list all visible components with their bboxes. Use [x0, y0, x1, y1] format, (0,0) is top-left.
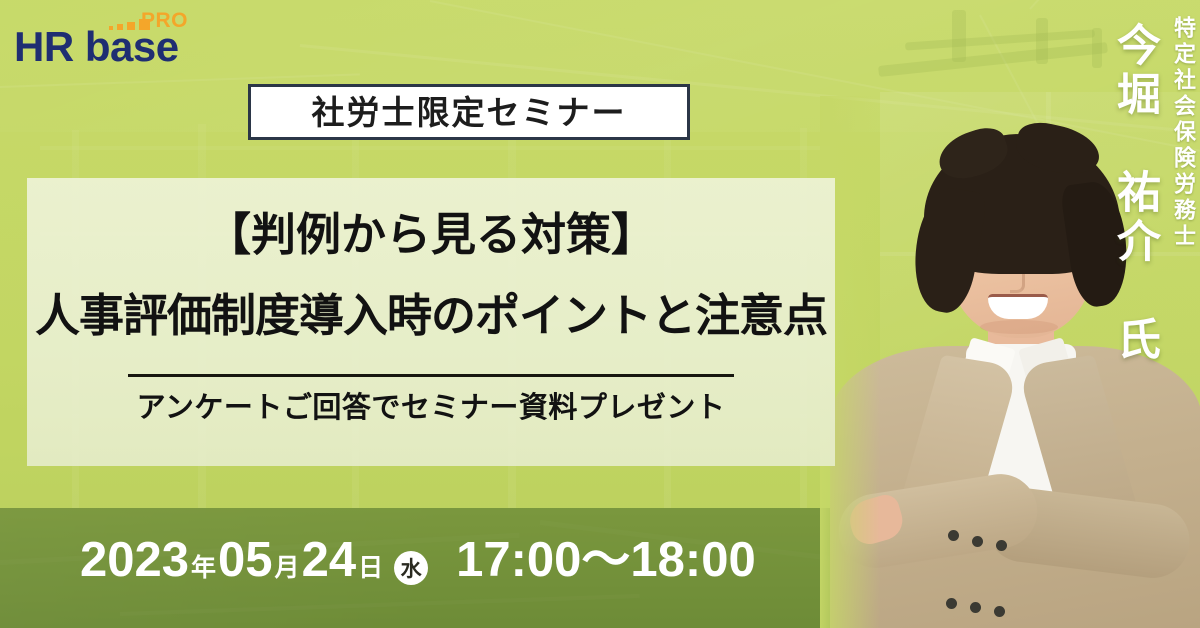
portrait-cuff-button	[948, 530, 959, 541]
portrait-mouth	[988, 294, 1048, 319]
hr-base-pro-logo[interactable]: PRO HR base	[14, 10, 214, 66]
main-content-panel: 【判例から見る対策】 人事評価制度導入時のポイントと注意点 アンケートご回答でセ…	[27, 178, 835, 466]
seminar-type-badge-label: 社労士限定セミナー	[312, 96, 627, 129]
schedule-month-unit: 月	[275, 556, 300, 581]
schedule-year: 2023	[80, 536, 189, 585]
portrait-cuff-button	[996, 540, 1007, 551]
speaker-name: 今堀 祐介 氏	[1112, 22, 1156, 365]
ceiling-pipe	[1092, 28, 1102, 68]
page-subtitle: アンケートご回答でセミナー資料プレゼント	[27, 394, 835, 423]
title-divider	[128, 374, 734, 377]
speaker-qualification: 特定社会保険労務士	[1172, 16, 1194, 250]
schedule-year-unit: 年	[191, 556, 216, 581]
seminar-type-badge: 社労士限定セミナー	[248, 84, 690, 140]
portrait-cuff-button	[972, 536, 983, 547]
schedule-row: 2023 年 05 月 24 日 水 17:00〜18:00	[80, 536, 756, 594]
ceiling-pipe	[952, 10, 966, 62]
schedule-day-unit: 日	[358, 556, 383, 581]
portrait-cuff-button	[994, 606, 1005, 617]
portrait-cuff-button	[970, 602, 981, 613]
page-title-line-2: 人事評価制度導入時のポイントと注意点	[27, 293, 835, 338]
seminar-banner: PRO HR base 社労士限定セミナー 【判例から見る対策】 人事評価制度導…	[0, 0, 1200, 628]
portrait-cuff-button	[946, 598, 957, 609]
ceiling-pipe	[1036, 18, 1048, 64]
schedule-weekday-badge: 水	[394, 551, 428, 585]
page-title-line-1: 【判例から見る対策】	[27, 212, 835, 257]
schedule-day: 24	[302, 536, 357, 585]
logo-wordmark: HR base	[14, 26, 179, 68]
shelf-shelf	[40, 146, 830, 150]
schedule-month: 05	[218, 536, 273, 585]
portrait-chin-shadow	[980, 320, 1058, 334]
schedule-time: 17:00〜18:00	[456, 536, 756, 585]
